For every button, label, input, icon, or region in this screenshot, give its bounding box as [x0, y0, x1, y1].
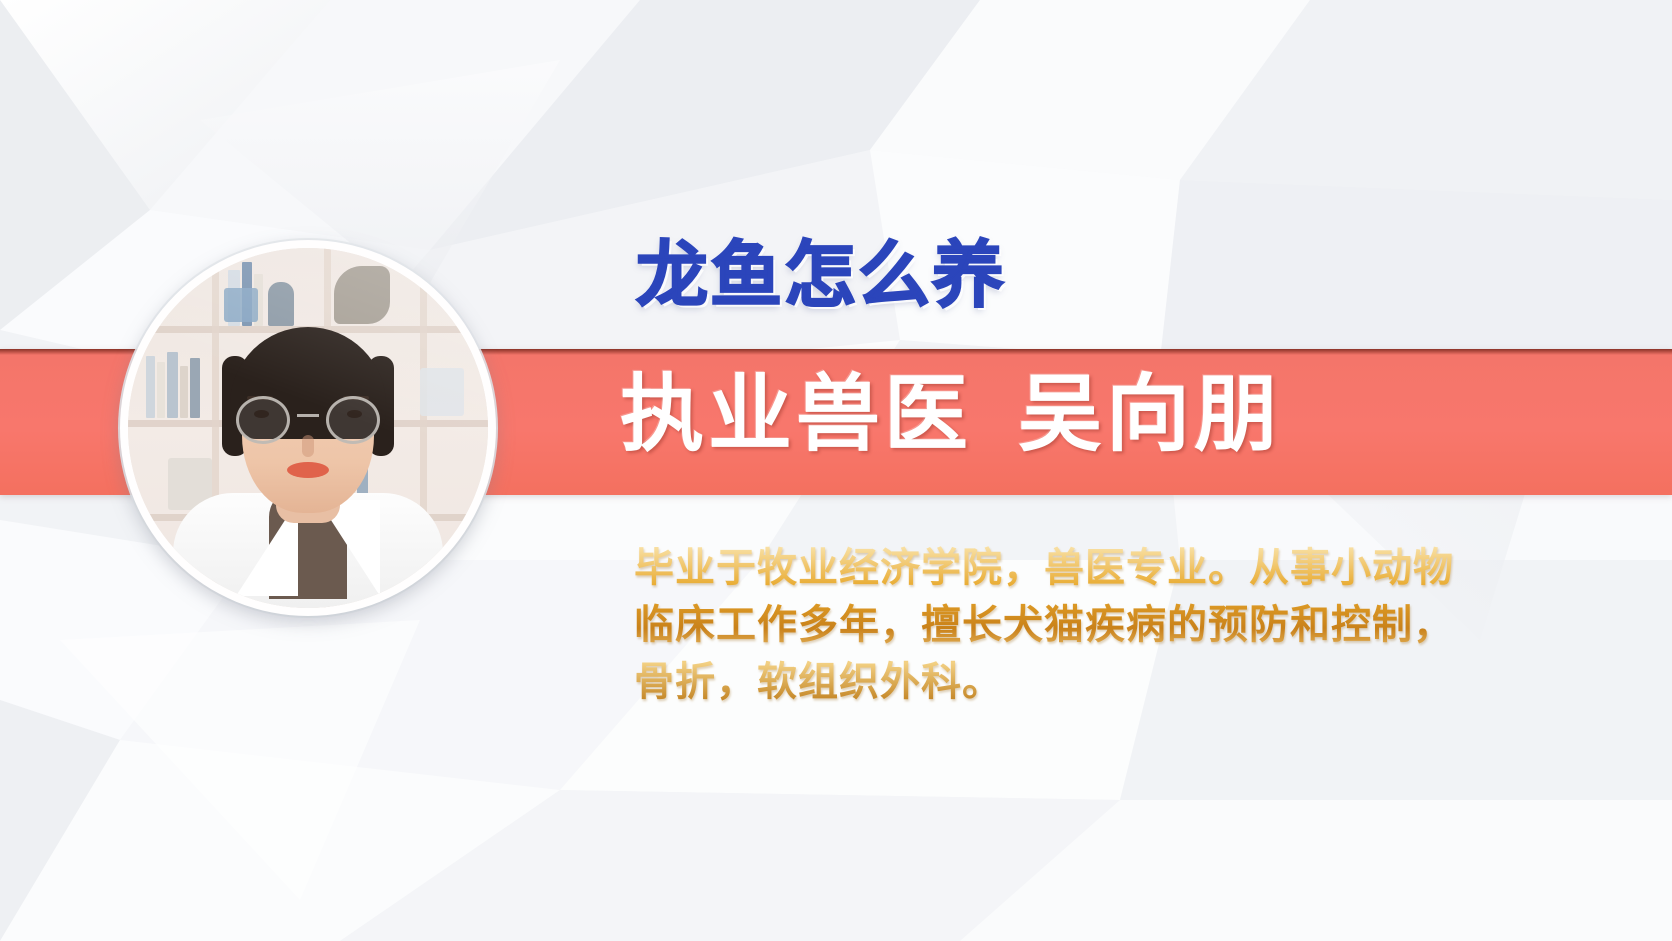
- bio-line: 毕业于牧业经济学院，兽医专业。从事小动物: [634, 540, 1464, 597]
- credential-label: 执业兽医: [620, 367, 972, 461]
- banner-text: 执业兽医吴向朋: [620, 372, 1282, 456]
- bio-line: 临床工作多年，擅长犬猫疾病的预防和控制，: [634, 597, 1464, 654]
- presenter-bio: 毕业于牧业经济学院，兽医专业。从事小动物 临床工作多年，擅长犬猫疾病的预防和控制…: [634, 540, 1464, 710]
- person-figure: [128, 248, 488, 608]
- bio-line: 骨折，软组织外科。: [634, 654, 1464, 711]
- presenter-name: 吴向朋: [1018, 367, 1282, 461]
- avatar: [120, 240, 496, 616]
- portrait-photo: [128, 248, 488, 608]
- page-title: 龙鱼怎么养: [636, 240, 1006, 312]
- eyeglasses-icon: [236, 396, 290, 444]
- video-title-card: 龙鱼怎么养 执业兽医吴向朋: [0, 0, 1672, 941]
